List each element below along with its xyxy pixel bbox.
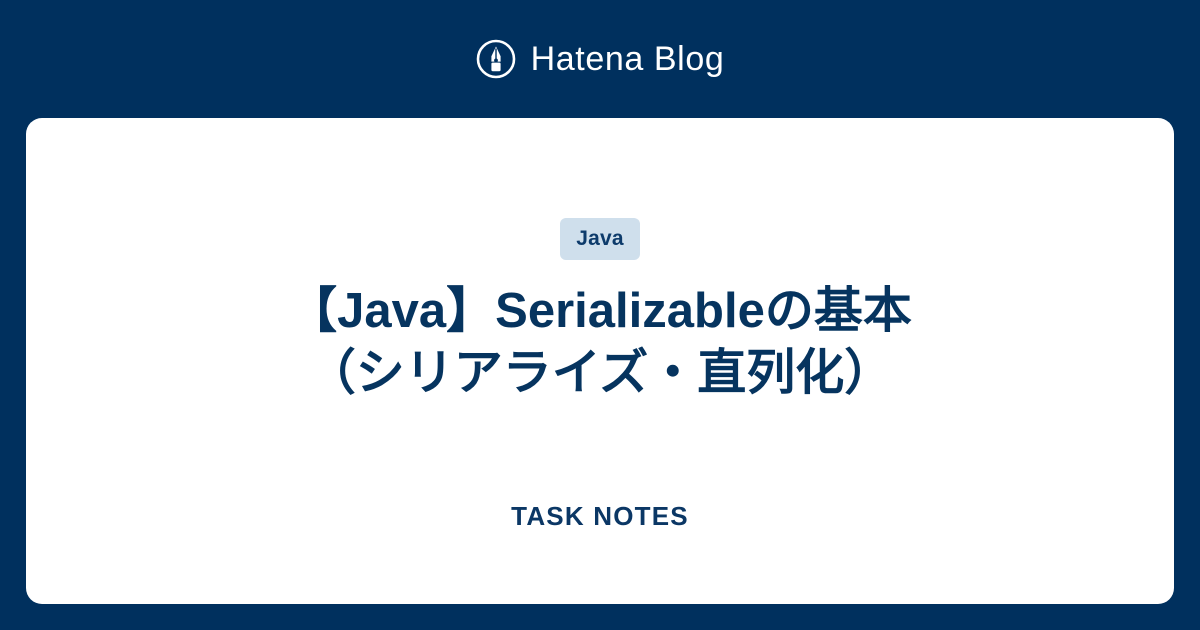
entry-title-line-2: （シリアライズ・直列化） bbox=[307, 346, 894, 400]
category-badge[interactable]: Java bbox=[560, 218, 640, 260]
entry-card: Java 【Java】Serializableの基本 （シリアライズ・直列化） … bbox=[26, 118, 1174, 604]
blog-name: TASK NOTES bbox=[511, 503, 689, 529]
entry-title: 【Java】Serializableの基本 （シリアライズ・直列化） bbox=[100, 281, 1100, 404]
hatena-blog-header: Hatena Blog bbox=[0, 0, 1200, 118]
hatena-blog-wordmark: Hatena Blog bbox=[531, 42, 725, 76]
category-badge-row: Java bbox=[26, 218, 1174, 260]
entry-title-line-1: 【Java】Serializableの基本 bbox=[288, 284, 912, 338]
hatena-pen-nib-icon bbox=[476, 39, 516, 79]
